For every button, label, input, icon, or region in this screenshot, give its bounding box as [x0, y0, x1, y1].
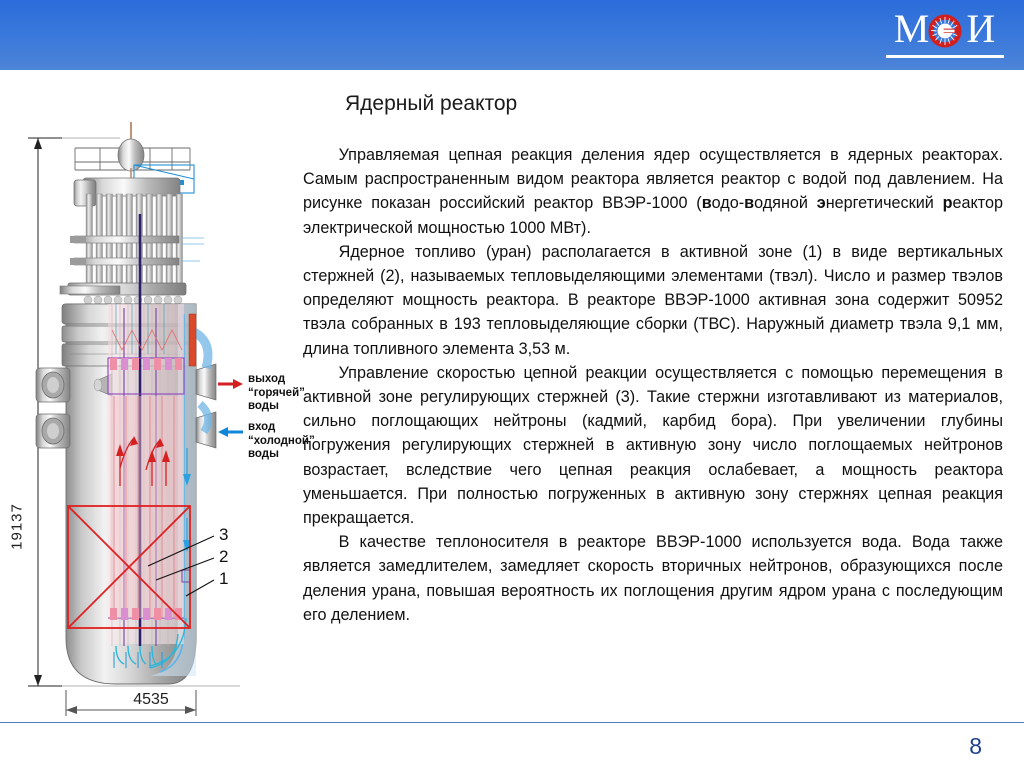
- label-number-3: 3: [219, 525, 228, 545]
- abbr-letter-r: р: [943, 194, 953, 212]
- page-number: 8: [969, 733, 982, 760]
- abbr-letter-v1: в: [702, 194, 712, 212]
- reactor-diagram: 19137 4535 выход “горячей” воды вход “хо…: [0, 118, 300, 722]
- dimension-height-line: [28, 138, 62, 686]
- reactor-diagram-svg: [0, 118, 300, 722]
- callout-hot-line-1: выход: [248, 373, 305, 387]
- paragraph-1: Управляемая цепная реакция деления ядер …: [303, 143, 1003, 240]
- label-number-2: 2: [219, 547, 228, 567]
- abbr-text-2: одяной: [754, 194, 817, 212]
- logo-sunburst-icon: [928, 14, 962, 48]
- paragraph-3: Управление скоростью цепной реакции осущ…: [303, 361, 1003, 530]
- footer-divider: [0, 722, 1024, 723]
- label-number-1: 1: [219, 569, 228, 589]
- control-rod-drives: [70, 178, 204, 290]
- callout-hot-line-2: “горячей”: [248, 387, 305, 401]
- head-flange: [60, 283, 186, 304]
- logo-letter-m: М: [894, 8, 931, 50]
- logo-letter-i: И: [966, 8, 996, 50]
- page-title: Ядерный реактор: [345, 92, 517, 116]
- abbr-letter-e: э: [817, 194, 826, 212]
- dimension-width-label: 4535: [96, 691, 206, 709]
- body-text-column: Управляемая цепная реакция деления ядер …: [303, 143, 1003, 627]
- paragraph-4: В качестве теплоносителя в реакторе ВВЭР…: [303, 530, 1003, 627]
- hot-leg-pipe: [189, 314, 196, 366]
- abbr-letter-v2: в: [744, 194, 754, 212]
- abbr-text-3: нергетический: [826, 194, 943, 212]
- callout-hot-water: выход “горячей” воды: [248, 373, 305, 414]
- slide-header-bar: МИ: [0, 0, 1024, 70]
- moscow-power-engineering-institute-logo: МИ: [880, 8, 1010, 62]
- dimension-height-label: 19137: [9, 497, 26, 557]
- abbr-text-1: одо-: [712, 194, 745, 212]
- callout-hot-line-3: воды: [248, 400, 305, 414]
- paragraph-2: Ядерное топливо (уран) располагается в а…: [303, 240, 1003, 361]
- logo-underline: [886, 55, 1004, 58]
- hot-water-arrow: [218, 379, 243, 389]
- cold-water-arrow: [218, 427, 243, 437]
